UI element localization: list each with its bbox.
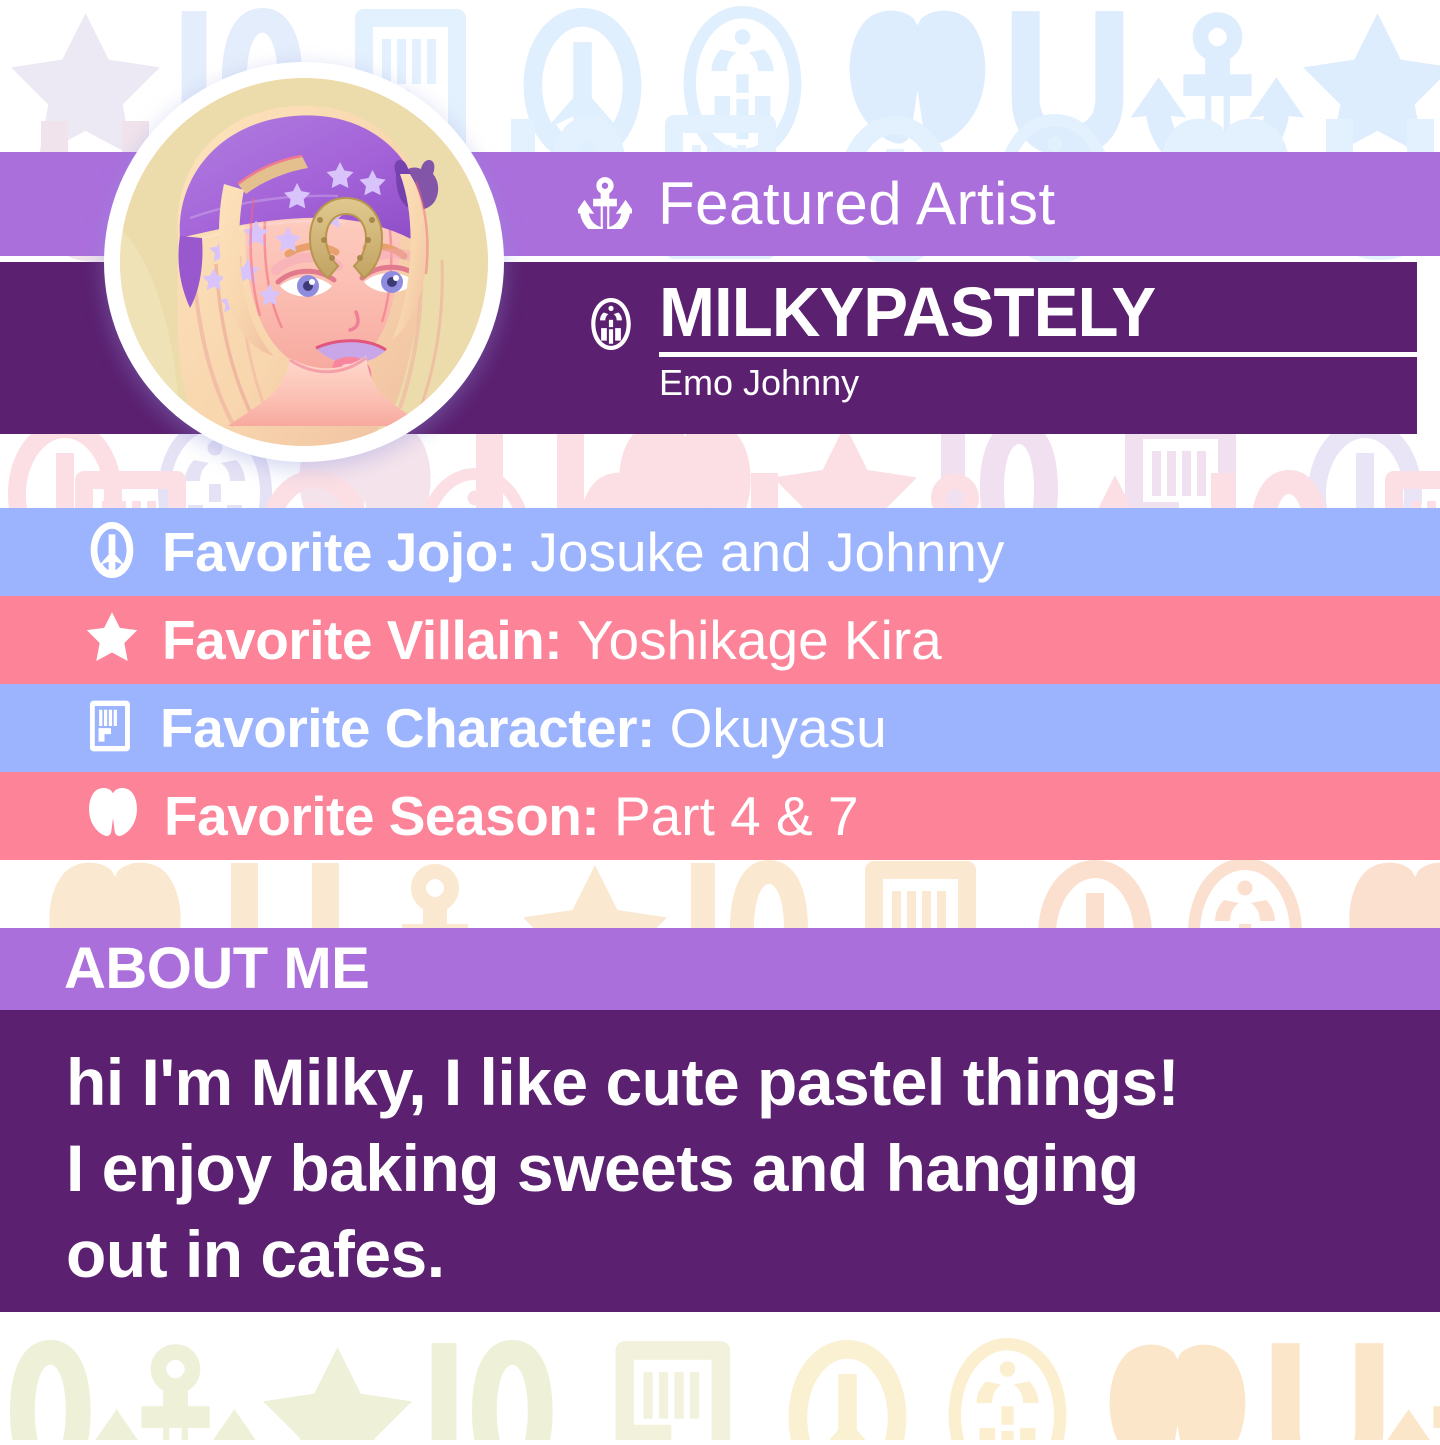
favorite-row-character: Favorite Character: Okuyasu [0, 684, 1440, 772]
favorite-value: Okuyasu [670, 697, 887, 759]
crazy-diamond-icon [84, 699, 138, 758]
favorite-separator: : [581, 785, 614, 847]
butterfly-icon [84, 786, 142, 847]
favorite-value: Part 4 & 7 [614, 785, 859, 847]
about-me-line: hi I'm Milky, I like cute pastel things! [66, 1040, 1380, 1126]
favorite-row-jojo: Favorite Jojo: Josuke and Johnny [0, 508, 1440, 596]
favorite-row-text: Favorite Villain: Yoshikage Kira [162, 613, 942, 668]
peace-sign-icon [84, 522, 140, 583]
favorite-separator: : [498, 521, 531, 583]
favorite-label: Favorite Villain [162, 609, 544, 671]
favorite-value: Josuke and Johnny [530, 521, 1004, 583]
artist-subtitle: Emo Johnny [659, 365, 1432, 401]
favorites-list: Favorite Jojo: Josuke and Johnny Favorit… [0, 508, 1440, 860]
favorite-value: Yoshikage Kira [577, 609, 942, 671]
hamon-emblem-icon [585, 298, 637, 355]
anchor-icon [578, 175, 632, 234]
about-me-body: hi I'm Milky, I like cute pastel things!… [0, 1010, 1440, 1312]
favorite-label: Favorite Jojo [162, 521, 498, 583]
avatar-image [120, 78, 488, 446]
star-icon [84, 610, 140, 671]
avatar [104, 62, 504, 462]
favorite-row-season: Favorite Season: Part 4 & 7 [0, 772, 1440, 860]
featured-artist-header: Featured Artist [578, 152, 1056, 256]
artist-name: MILKYPASTELY [659, 280, 1401, 344]
favorite-row-villain: Favorite Villain: Yoshikage Kira [0, 596, 1440, 684]
favorite-row-text: Favorite Character: Okuyasu [160, 701, 887, 756]
favorite-label: Favorite Season [164, 785, 581, 847]
favorite-separator: : [637, 697, 670, 759]
artist-name-underline [659, 352, 1432, 357]
favorite-row-text: Favorite Season: Part 4 & 7 [164, 789, 859, 844]
about-me-header: ABOUT ME [0, 928, 1440, 1010]
about-me-line: out in cafes. [66, 1212, 1380, 1298]
pattern-row-bottom [0, 1338, 1440, 1440]
about-me-line: I enjoy baking sweets and hanging [66, 1126, 1380, 1212]
about-me-heading: ABOUT ME [64, 940, 369, 998]
favorite-row-text: Favorite Jojo: Josuke and Johnny [162, 525, 1004, 580]
favorite-label: Favorite Character [160, 697, 637, 759]
featured-artist-label: Featured Artist [658, 174, 1056, 234]
favorite-separator: : [544, 609, 577, 671]
